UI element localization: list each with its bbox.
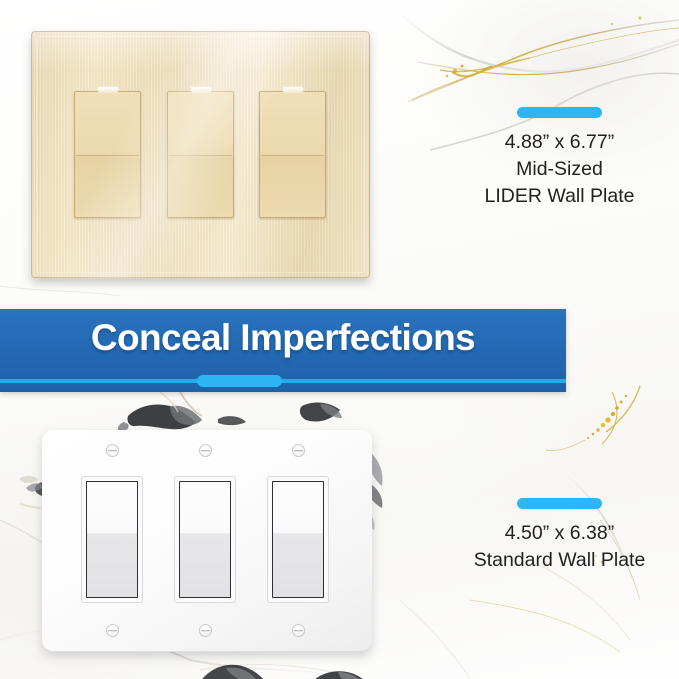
callout-mid-sized: 4.88” x 6.77” Mid-Sized LIDER Wall Plate bbox=[440, 107, 679, 210]
white-rocker-face-2 bbox=[179, 481, 231, 598]
headline-text: Conceal Imperfections bbox=[0, 317, 566, 359]
callout-size-label-top: Mid-Sized bbox=[440, 156, 679, 183]
gold-wall-plate bbox=[31, 31, 370, 278]
gold-rocker-switch-3[interactable] bbox=[259, 91, 326, 218]
gold-rocker-switch-1[interactable] bbox=[74, 91, 141, 218]
callout-product-name-top: LIDER Wall Plate bbox=[440, 183, 679, 210]
plate-screw-top-left[interactable] bbox=[106, 444, 119, 457]
plate-screw-bottom-center[interactable] bbox=[199, 624, 212, 637]
callout-accent-bar-top bbox=[517, 107, 602, 118]
callout-dimensions-bottom: 4.50” x 6.38” bbox=[440, 520, 679, 547]
gold-switch-tab-3 bbox=[283, 87, 303, 92]
gold-switch-tab-2 bbox=[191, 87, 211, 92]
gold-plate-body bbox=[31, 31, 370, 278]
white-rocker-face-1 bbox=[86, 481, 138, 598]
top-product-panel: 4.88” x 6.77” Mid-Sized LIDER Wall Plate bbox=[0, 0, 679, 309]
plate-screw-top-center[interactable] bbox=[199, 444, 212, 457]
white-rocker-switch-1[interactable] bbox=[81, 476, 143, 603]
banner-accent-pill bbox=[197, 375, 282, 387]
callout-accent-bar-bottom bbox=[517, 498, 602, 509]
callout-standard: 4.50” x 6.38” Standard Wall Plate bbox=[440, 498, 679, 574]
callout-dimensions-top: 4.88” x 6.77” bbox=[440, 129, 679, 156]
plate-screw-bottom-left[interactable] bbox=[106, 624, 119, 637]
plate-screw-top-right[interactable] bbox=[292, 444, 305, 457]
plate-screw-bottom-right[interactable] bbox=[292, 624, 305, 637]
white-plate-body bbox=[42, 430, 372, 652]
white-wall-plate bbox=[42, 430, 372, 652]
gold-rocker-switch-2[interactable] bbox=[167, 91, 234, 218]
white-rocker-switch-3[interactable] bbox=[267, 476, 329, 603]
callout-product-name-bottom: Standard Wall Plate bbox=[440, 547, 679, 574]
gold-switch-tab-1 bbox=[98, 87, 118, 92]
headline-banner: Conceal Imperfections bbox=[0, 309, 566, 392]
product-comparison-image: 4.88” x 6.77” Mid-Sized LIDER Wall Plate bbox=[0, 0, 679, 679]
banner-accent-rule bbox=[0, 379, 566, 383]
white-rocker-switch-2[interactable] bbox=[174, 476, 236, 603]
white-rocker-face-3 bbox=[272, 481, 324, 598]
